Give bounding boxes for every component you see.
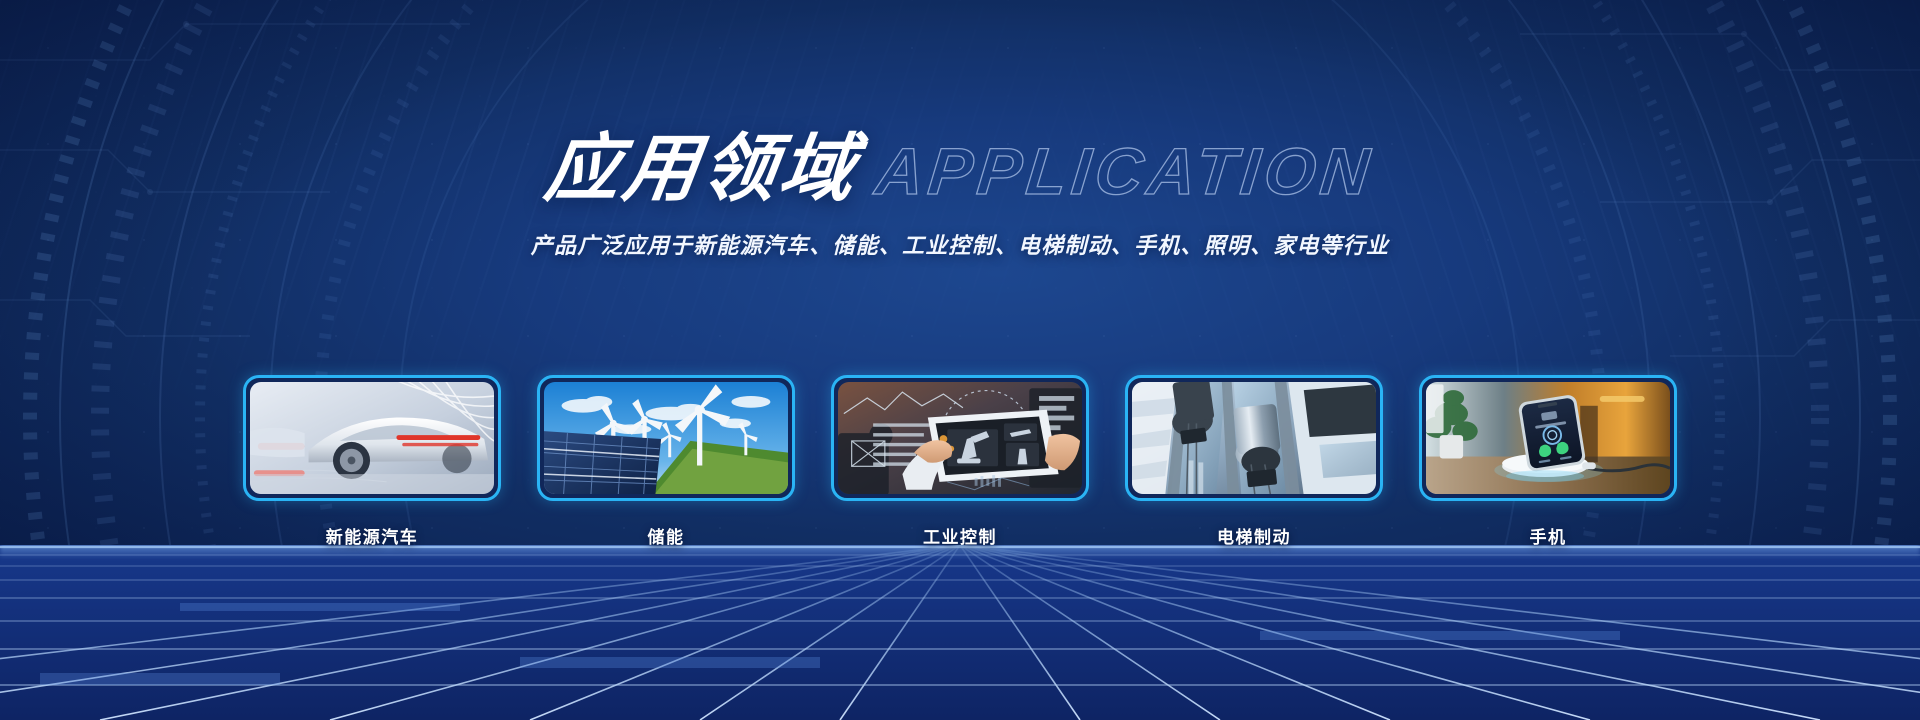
card-thumbnail-frame[interactable] [243,375,501,501]
industrial-control-photo [838,382,1082,494]
elevator-braking-photo [1132,382,1376,494]
title-row: 应用领域 APPLICATION [546,132,1373,206]
application-banner: 应用领域 APPLICATION 产品广泛应用于新能源汽车、储能、工业控制、电梯… [0,0,1920,720]
banner-subtitle: 产品广泛应用于新能源汽车、储能、工业控制、电梯制动、手机、照明、家电等行业 [0,228,1920,260]
application-card[interactable]: 新能源汽车 [243,375,501,548]
card-label: 储能 [537,523,795,548]
page-title-cn: 应用领域 [541,132,863,206]
banner-header: 应用领域 APPLICATION 产品广泛应用于新能源汽车、储能、工业控制、电梯… [0,132,1920,260]
perspective-floor-grid [0,545,1920,720]
application-card[interactable]: 手机 [1419,375,1677,548]
mobile-phone-photo [1426,382,1670,494]
card-thumbnail-frame[interactable] [537,375,795,501]
application-card[interactable]: 电梯制动 [1125,375,1383,548]
card-label: 电梯制动 [1125,523,1383,548]
card-label: 新能源汽车 [243,523,501,548]
energy-storage-photo [544,382,788,494]
card-label: 手机 [1419,523,1677,548]
card-thumbnail-frame[interactable] [1125,375,1383,501]
application-card[interactable]: 工业控制 [831,375,1089,548]
application-card-list: 新能源汽车 [0,375,1920,548]
card-thumbnail-frame[interactable] [1419,375,1677,501]
card-thumbnail-frame[interactable] [831,375,1089,501]
card-label: 工业控制 [831,523,1089,548]
new-energy-vehicle-photo [250,382,494,494]
application-card[interactable]: 储能 [537,375,795,548]
page-title-en: APPLICATION [873,138,1378,206]
